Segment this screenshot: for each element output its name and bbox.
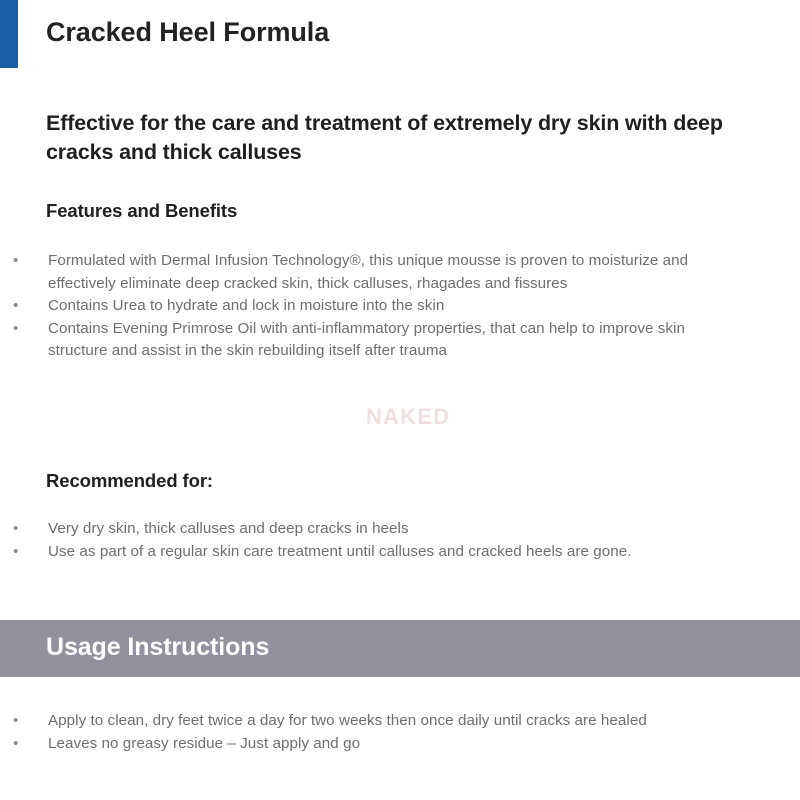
list-item: • Very dry skin, thick calluses and deep… — [0, 518, 800, 541]
features-bullet-list: • Formulated with Dermal Infusion Techno… — [0, 250, 800, 363]
features-heading: Features and Benefits — [46, 200, 237, 222]
list-item-text: Contains Evening Primrose Oil with anti-… — [48, 318, 744, 363]
usage-bullet-list: • Apply to clean, dry feet twice a day f… — [0, 710, 800, 755]
bullet-marker-icon: • — [13, 295, 23, 318]
list-item-text: Use as part of a regular skin care treat… — [48, 541, 744, 564]
bullet-marker-icon: • — [13, 710, 23, 733]
usage-instructions-banner: Usage Instructions — [0, 620, 800, 677]
list-item: • Formulated with Dermal Infusion Techno… — [0, 250, 800, 295]
blue-accent-bar — [0, 0, 18, 68]
list-item: • Contains Evening Primrose Oil with ant… — [0, 318, 800, 363]
list-item: • Apply to clean, dry feet twice a day f… — [0, 710, 800, 733]
list-item: • Use as part of a regular skin care tre… — [0, 541, 800, 564]
list-item: • Contains Urea to hydrate and lock in m… — [0, 295, 800, 318]
page-header: Cracked Heel Formula — [0, 0, 800, 70]
recommended-bullet-list: • Very dry skin, thick calluses and deep… — [0, 518, 800, 563]
list-item-text: Formulated with Dermal Infusion Technolo… — [48, 250, 744, 295]
recommended-heading: Recommended for: — [46, 470, 213, 492]
bullet-marker-icon: • — [13, 518, 23, 541]
list-item-text: Apply to clean, dry feet twice a day for… — [48, 710, 744, 733]
bullet-marker-icon: • — [13, 541, 23, 564]
list-item-text: Contains Urea to hydrate and lock in moi… — [48, 295, 744, 318]
page-subtitle: Effective for the care and treatment of … — [46, 109, 736, 166]
bullet-marker-icon: • — [13, 733, 23, 756]
usage-instructions-heading: Usage Instructions — [46, 633, 269, 662]
page-title: Cracked Heel Formula — [46, 17, 329, 48]
bullet-marker-icon: • — [13, 318, 23, 341]
bullet-marker-icon: • — [13, 250, 23, 273]
watermark-text: NAKED — [366, 404, 450, 430]
list-item-text: Leaves no greasy residue – Just apply an… — [48, 733, 744, 756]
list-item: • Leaves no greasy residue – Just apply … — [0, 733, 800, 756]
list-item-text: Very dry skin, thick calluses and deep c… — [48, 518, 744, 541]
product-info-page: Cracked Heel Formula Effective for the c… — [0, 0, 800, 800]
